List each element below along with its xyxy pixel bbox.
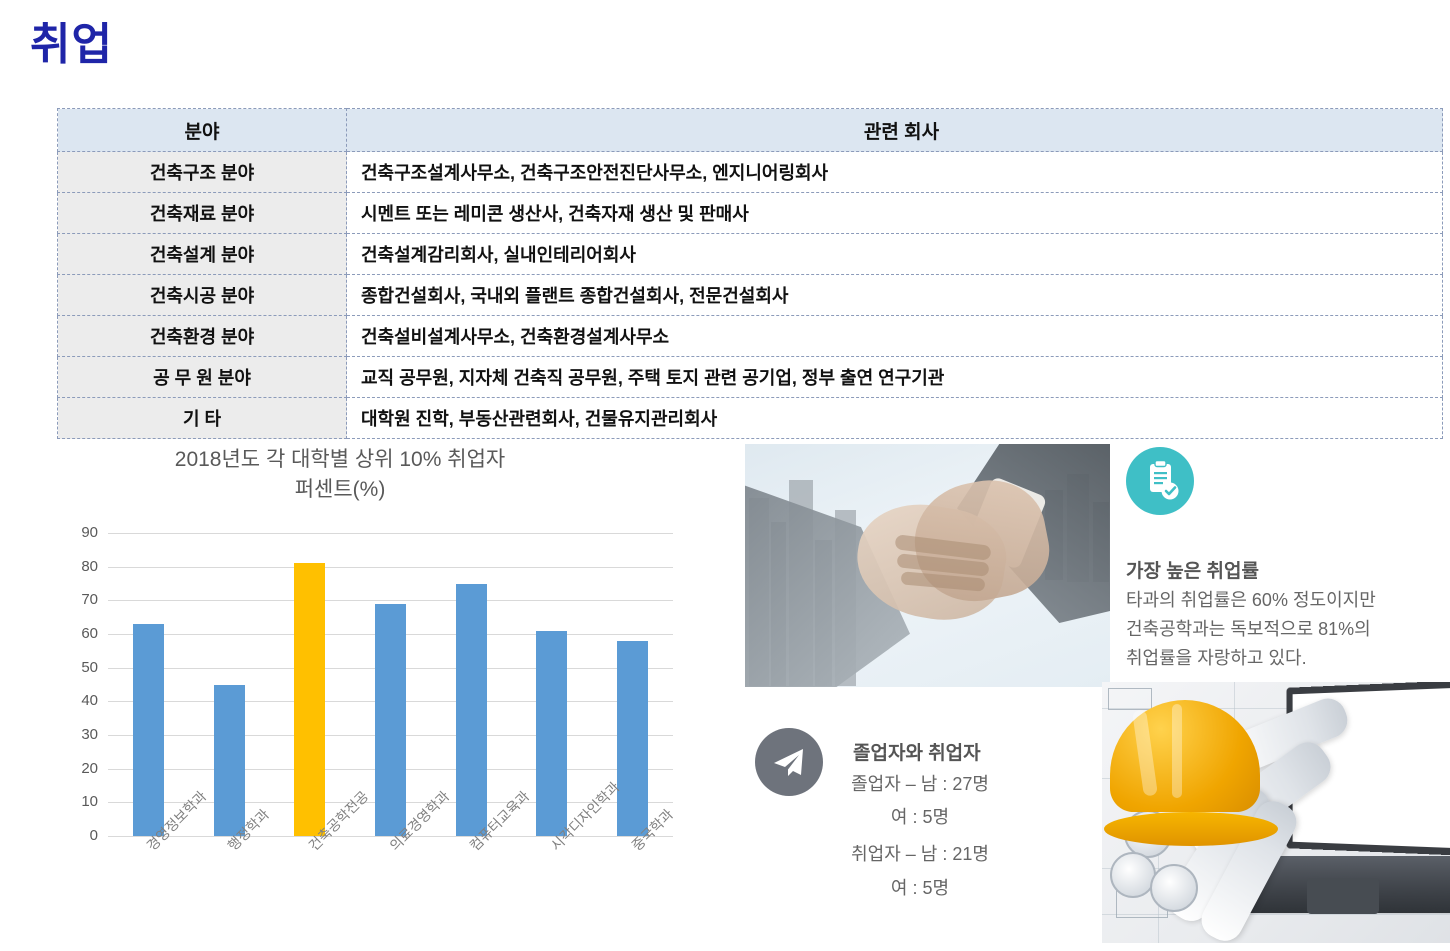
table-row: 건축설계 분야건축설계감리회사, 실내인테리어회사: [58, 234, 1443, 275]
handshake-cityscape-photo: [745, 444, 1110, 687]
chart-bar: [294, 563, 325, 836]
page-title: 취업: [30, 8, 113, 72]
table-cell-field: 공 무 원 분야: [58, 357, 347, 398]
chart-bar: [214, 685, 245, 837]
info-body-line-1: 타과의 취업률은 60% 정도이지만: [1126, 586, 1426, 615]
table-cell-companies: 시멘트 또는 레미콘 생산사, 건축자재 생산 및 판매사: [347, 193, 1443, 234]
grad-line-4: 여 : 5명: [820, 874, 1020, 900]
employment-bar-chart: 2018년도 각 대학별 상위 10% 취업자 퍼센트(%) 010203040…: [60, 445, 660, 940]
y-axis-tick: 60: [58, 625, 98, 642]
y-axis-tick: 40: [58, 692, 98, 709]
table-cell-companies: 건축설비설계사무소, 건축환경설계사무소: [347, 316, 1443, 357]
table-row: 건축재료 분야시멘트 또는 레미콘 생산사, 건축자재 생산 및 판매사: [58, 193, 1443, 234]
y-axis-tick: 70: [58, 591, 98, 608]
chart-bar: [456, 584, 487, 837]
job-fields-table: 분야 관련 회사 건축구조 분야건축구조설계사무소, 건축구조안전진단사무소, …: [57, 108, 1443, 439]
y-axis-tick: 10: [58, 793, 98, 810]
hard-hat: [1110, 700, 1260, 812]
chart-plot-area: 0102030405060708090 경영정보학과행정학과건축공학전공의료경영…: [60, 533, 660, 853]
y-axis-tick: 30: [58, 726, 98, 743]
chart-bar: [375, 604, 406, 836]
hardhat-blueprint-laptop-photo: [1102, 682, 1450, 943]
paper-plane-icon: [755, 728, 823, 796]
grad-card-heading: 졸업자와 취업자: [853, 738, 981, 765]
grad-line-2: 여 : 5명: [820, 803, 1020, 829]
chart-bar: [617, 641, 648, 836]
chart-bar: [133, 624, 164, 836]
info-body-line-3: 취업률을 자랑하고 있다.: [1126, 644, 1426, 673]
y-axis-tick: 0: [58, 827, 98, 844]
clipboard-check-icon: [1126, 447, 1194, 515]
y-axis-tick: 50: [58, 659, 98, 676]
table-row: 기 타대학원 진학, 부동산관련회사, 건물유지관리회사: [58, 398, 1443, 439]
chart-title-line1: 2018년도 각 대학별 상위 10% 취업자: [60, 445, 620, 475]
chart-title: 2018년도 각 대학별 상위 10% 취업자 퍼센트(%): [60, 445, 620, 506]
table-header-companies: 관련 회사: [347, 109, 1443, 152]
table-cell-companies: 건축구조설계사무소, 건축구조안전진단사무소, 엔지니어링회사: [347, 152, 1443, 193]
table-cell-field: 기 타: [58, 398, 347, 439]
table-row: 공 무 원 분야교직 공무원, 지자체 건축직 공무원, 주택 토지 관련 공기…: [58, 357, 1443, 398]
info-body-line-2: 건축공학과는 독보적으로 81%의: [1126, 615, 1426, 644]
y-axis-tick: 80: [58, 558, 98, 575]
y-axis-tick: 90: [58, 524, 98, 541]
table-cell-field: 건축설계 분야: [58, 234, 347, 275]
table-cell-companies: 건축설계감리회사, 실내인테리어회사: [347, 234, 1443, 275]
table-cell-companies: 대학원 진학, 부동산관련회사, 건물유지관리회사: [347, 398, 1443, 439]
table-cell-field: 건축환경 분야: [58, 316, 347, 357]
table-body: 건축구조 분야건축구조설계사무소, 건축구조안전진단사무소, 엔지니어링회사건축…: [58, 152, 1443, 439]
table-header-row: 분야 관련 회사: [58, 109, 1443, 152]
table-cell-companies: 교직 공무원, 지자체 건축직 공무원, 주택 토지 관련 공기업, 정부 출연…: [347, 357, 1443, 398]
chart-x-axis-labels: 경영정보학과행정학과건축공학전공의료경영학과컴퓨터교육과시각디자인학과중국학과: [108, 841, 673, 951]
grad-line-1: 졸업자 – 남 : 27명: [820, 770, 1020, 796]
chart-title-line2: 퍼센트(%): [60, 475, 620, 505]
table-row: 건축시공 분야종합건설회사, 국내외 플랜트 종합건설회사, 전문건설회사: [58, 275, 1443, 316]
table-cell-field: 건축재료 분야: [58, 193, 347, 234]
y-axis-tick: 20: [58, 760, 98, 777]
laptop-trackpad: [1307, 878, 1379, 914]
table-cell-field: 건축시공 분야: [58, 275, 347, 316]
table-row: 건축환경 분야건축설비설계사무소, 건축환경설계사무소: [58, 316, 1443, 357]
table-header-field: 분야: [58, 109, 347, 152]
table-row: 건축구조 분야건축구조설계사무소, 건축구조안전진단사무소, 엔지니어링회사: [58, 152, 1443, 193]
chart-bar: [536, 631, 567, 836]
info-card-heading: 가장 높은 취업률: [1126, 556, 1259, 583]
table-cell-companies: 종합건설회사, 국내외 플랜트 종합건설회사, 전문건설회사: [347, 275, 1443, 316]
table-cell-field: 건축구조 분야: [58, 152, 347, 193]
info-card-body: 타과의 취업률은 60% 정도이지만 건축공학과는 독보적으로 81%의 취업률…: [1126, 586, 1426, 673]
grad-line-3: 취업자 – 남 : 21명: [820, 840, 1020, 866]
